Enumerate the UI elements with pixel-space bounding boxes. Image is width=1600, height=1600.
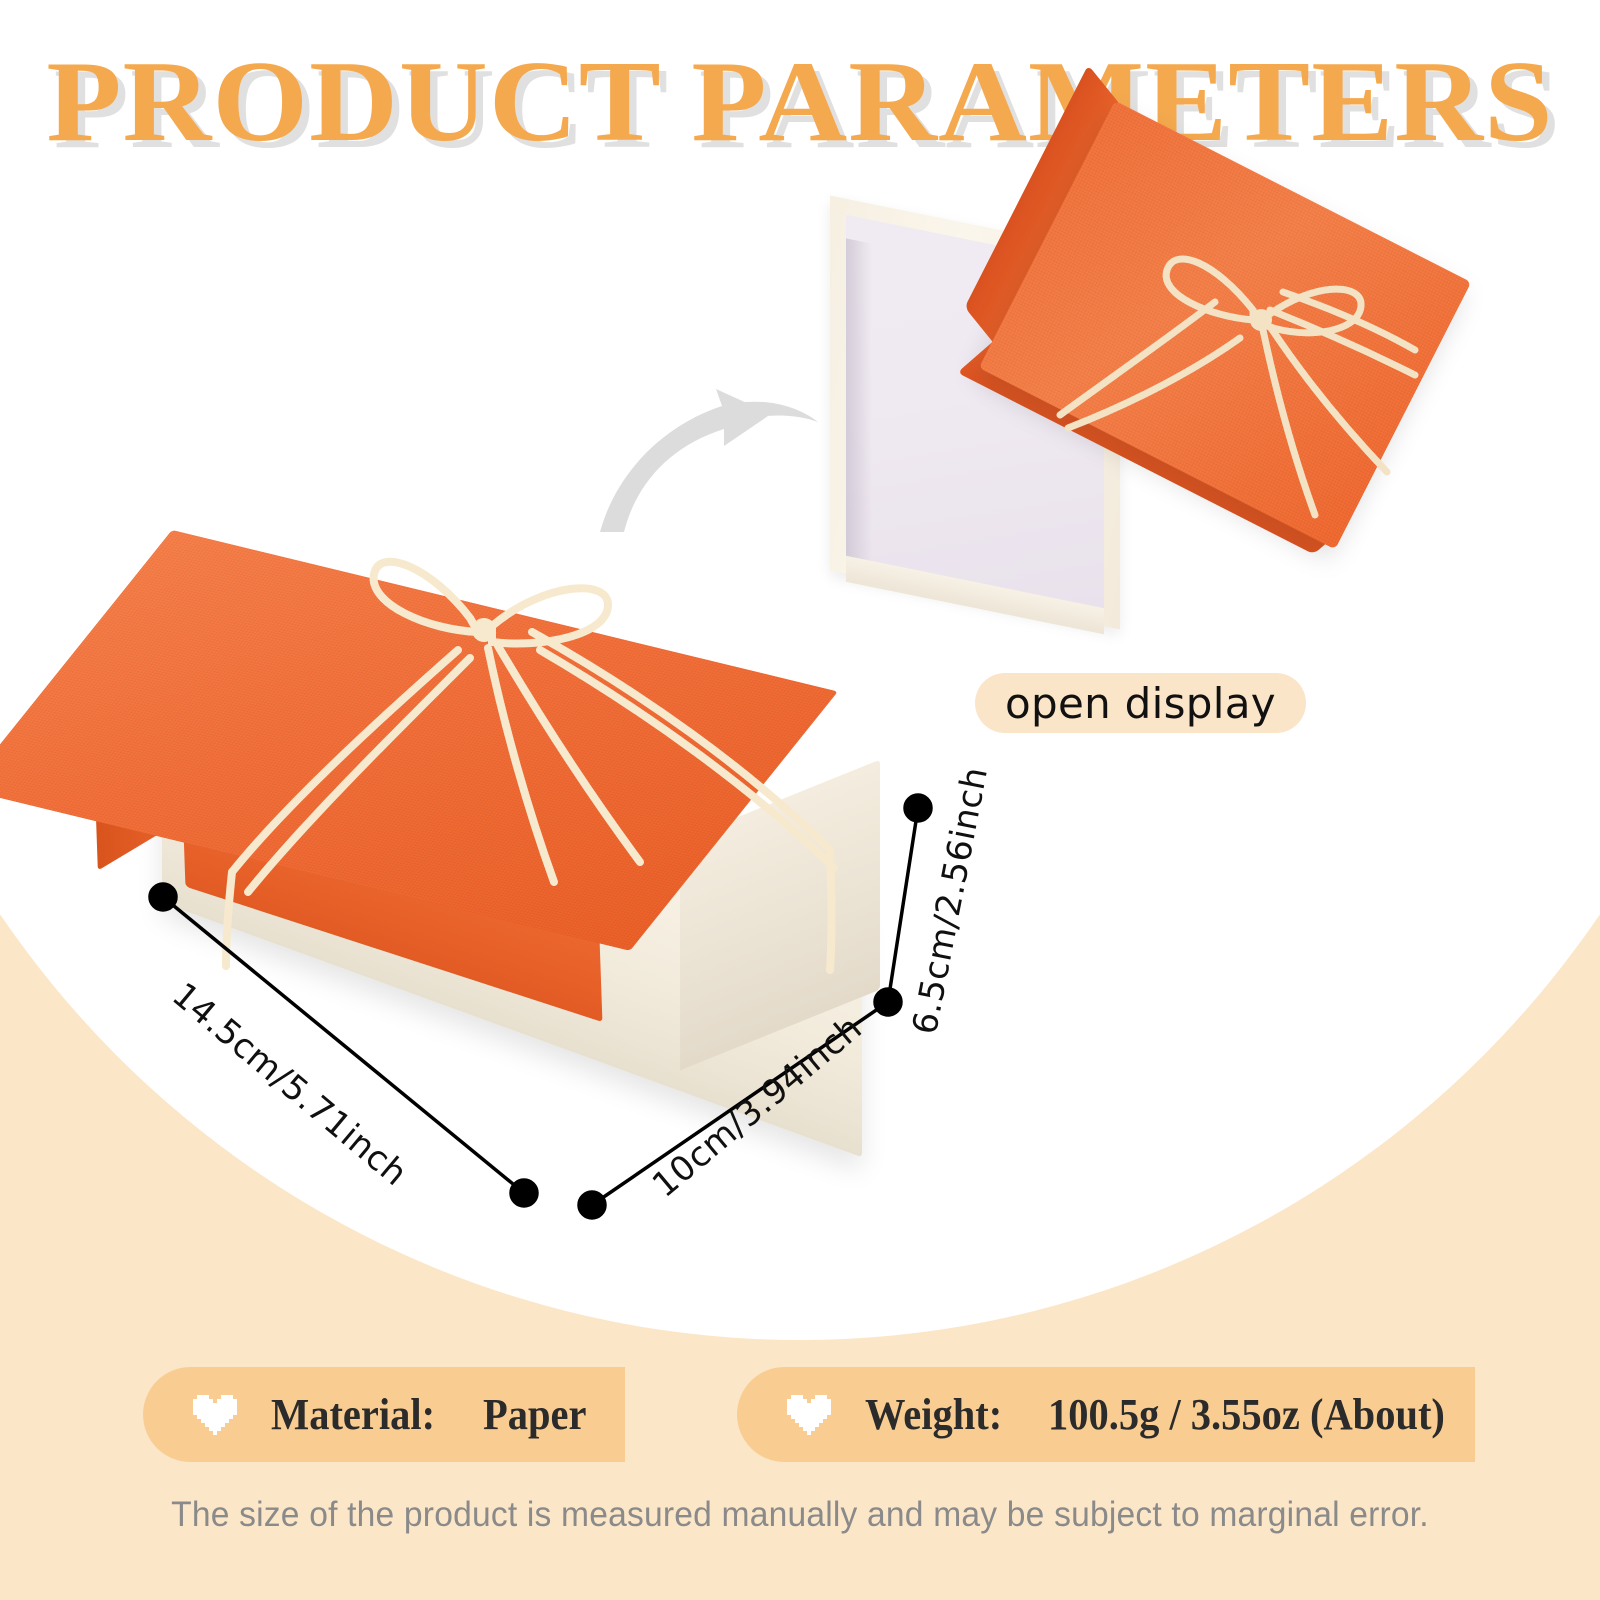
- spec-material: Material: Paper: [143, 1367, 625, 1462]
- spec-material-label: Material:: [271, 1389, 435, 1440]
- heart-icon: [189, 1391, 241, 1439]
- page-title: PRODUCT PARAMETERS: [0, 36, 1600, 169]
- open-display-badge: open display: [975, 673, 1306, 733]
- spec-weight-value: 100.5g / 3.55oz (About): [1048, 1389, 1445, 1440]
- heart-icon: [783, 1391, 835, 1439]
- infographic-page: PRODUCT PARAMETERS: [0, 0, 1600, 1600]
- footer-disclaimer: The size of the product is measured manu…: [32, 1495, 1568, 1535]
- spec-material-value: Paper: [483, 1389, 586, 1440]
- spec-weight: Weight: 100.5g / 3.55oz (About): [737, 1367, 1475, 1462]
- spec-row: Material: Paper Weight: 100.5: [0, 1367, 1600, 1462]
- closed-gift-box: [140, 500, 920, 1200]
- spec-weight-label: Weight:: [865, 1389, 1002, 1440]
- closed-box-ribbon: [140, 500, 920, 1200]
